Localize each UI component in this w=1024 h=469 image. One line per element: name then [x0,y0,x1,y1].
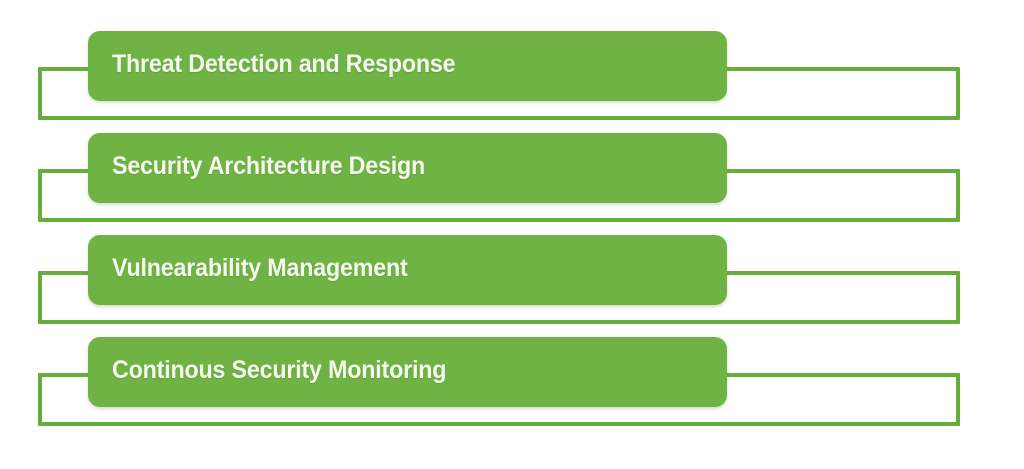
row-label-3: Vulnearability Management [112,254,408,283]
row-pill-3[interactable]: Vulnearability Management [88,235,727,305]
row-pill-1[interactable]: Threat Detection and Response [88,31,727,101]
row-label-4: Continous Security Monitoring [112,356,446,385]
row-label-1: Threat Detection and Response [112,50,455,79]
diagram-row-4[interactable]: Continous Security Monitoring [0,334,1024,436]
process-list-diagram: Threat Detection and Response Security A… [0,0,1024,469]
diagram-row-2[interactable]: Security Architecture Design [0,130,1024,232]
row-pill-4[interactable]: Continous Security Monitoring [88,337,727,407]
diagram-row-1[interactable]: Threat Detection and Response [0,28,1024,130]
row-pill-2[interactable]: Security Architecture Design [88,133,727,203]
row-label-2: Security Architecture Design [112,152,425,181]
diagram-row-3[interactable]: Vulnearability Management [0,232,1024,334]
